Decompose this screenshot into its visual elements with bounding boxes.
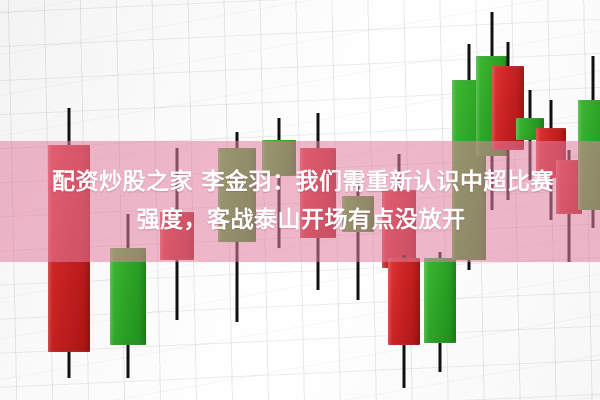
caption-text: 配资炒股之家 李金羽：我们需重新认识中超比赛 强度，客战泰山开场有点没放开 — [0, 163, 600, 284]
caption-line-1: 配资炒股之家 李金羽：我们需重新认识中超比赛 — [0, 163, 600, 201]
banner-image: 配资炒股之家 李金羽：我们需重新认识中超比赛 强度，客战泰山开场有点没放开 — [0, 0, 600, 400]
caption-line-2: 强度，客战泰山开场有点没放开 — [0, 201, 600, 239]
